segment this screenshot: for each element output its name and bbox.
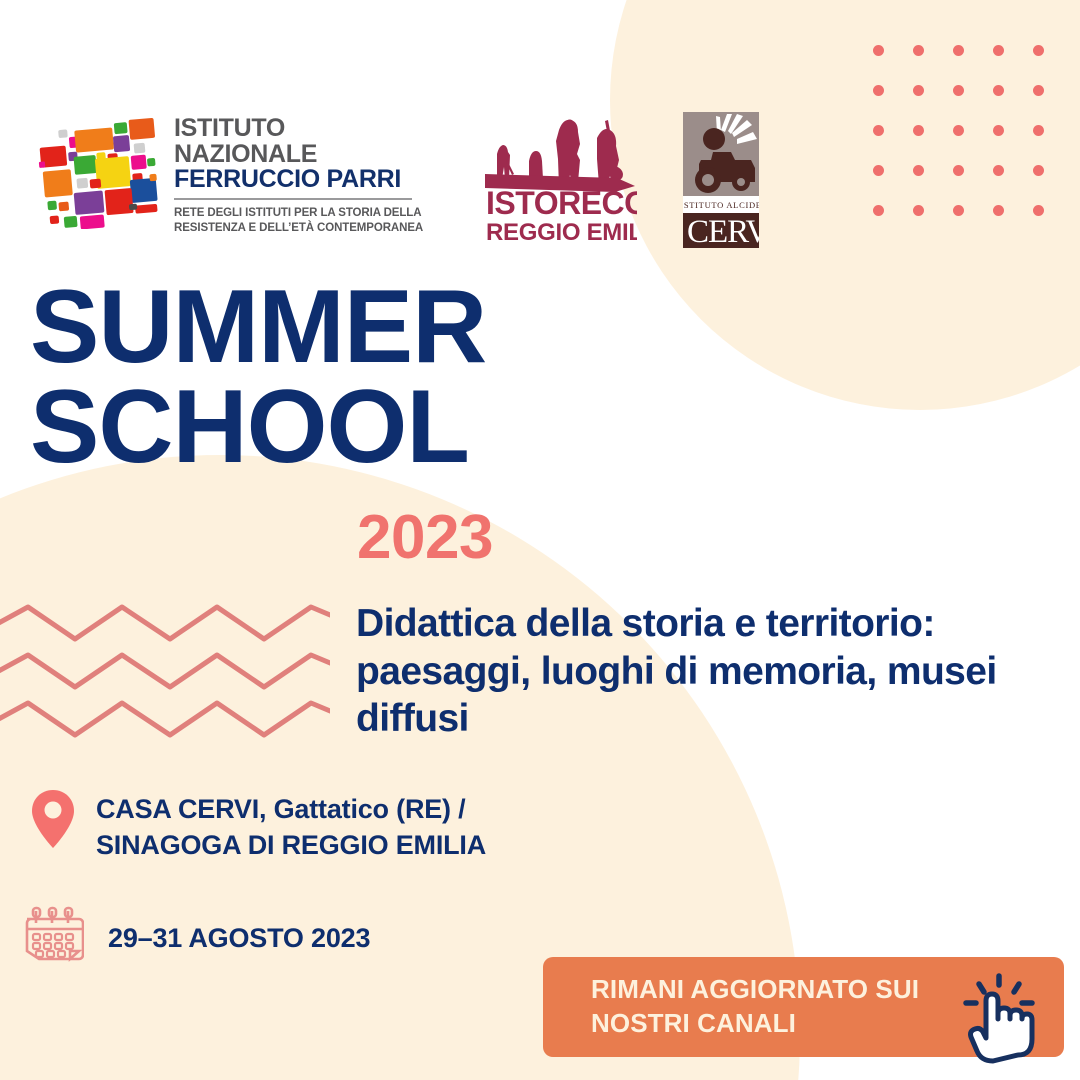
dot (1033, 165, 1044, 176)
dot (993, 85, 1004, 96)
headline-year: 2023 (357, 502, 493, 573)
dot (913, 125, 924, 136)
cervi-line1: ISTITUTO ALCIDE (683, 200, 759, 210)
dot (873, 45, 884, 56)
dot (993, 45, 1004, 56)
istoreco-line2: REGGIO EMILIA (486, 219, 637, 246)
cta-line2: NOSTRI CANALI (591, 1007, 919, 1041)
zigzag-lines-decoration (0, 595, 330, 745)
dot (913, 45, 924, 56)
place-line2: SINAGOGA DI REGGIO EMILIA (96, 828, 486, 864)
istituto-alcide-cervi-logo: ISTITUTO ALCIDE CERVI (683, 110, 759, 248)
dot (953, 45, 964, 56)
dot (953, 205, 964, 216)
map-pin-icon (30, 788, 76, 850)
parri-mosaic-icon (32, 117, 160, 229)
dot (1033, 85, 1044, 96)
tap-hand-cursor-icon (960, 973, 1038, 1065)
poster-canvas: ISTITUTO NAZIONALE FERRUCCIO PARRI RETE … (0, 0, 1080, 1080)
dot (913, 85, 924, 96)
dot (873, 165, 884, 176)
cervi-line2: CERVI (687, 214, 759, 248)
dot (953, 165, 964, 176)
headline-line1: SUMMER (30, 278, 486, 378)
dot-grid-decoration (858, 30, 1058, 230)
istoreco-line1: ISTORECO (486, 185, 637, 221)
dot (953, 125, 964, 136)
headline-line2: SCHOOL (30, 378, 486, 478)
calendar-icon (22, 905, 84, 969)
dot (993, 165, 1004, 176)
page-title: SUMMER SCHOOL (30, 278, 486, 478)
istituto-parri-logo: ISTITUTO NAZIONALE FERRUCCIO PARRI RETE … (32, 110, 432, 236)
dot (873, 85, 884, 96)
info-date-text: 29–31 AGOSTO 2023 (108, 917, 370, 957)
cta-label: RIMANI AGGIORNATO SUI NOSTRI CANALI (591, 973, 919, 1041)
parri-divider (174, 198, 412, 200)
dot (1033, 45, 1044, 56)
dot (873, 205, 884, 216)
info-date-row: 29–31 AGOSTO 2023 (22, 905, 370, 969)
dot (993, 205, 1004, 216)
istoreco-logo: ISTORECO REGGIO EMILIA (477, 110, 637, 246)
stay-updated-cta-banner[interactable]: RIMANI AGGIORNATO SUI NOSTRI CANALI (543, 957, 1064, 1057)
dot (1033, 205, 1044, 216)
parri-subtitle: RETE DEGLI ISTITUTI PER LA STORIA DELLA … (174, 206, 432, 237)
dot (993, 125, 1004, 136)
dot (873, 125, 884, 136)
cta-line1: RIMANI AGGIORNATO SUI (591, 973, 919, 1007)
parri-line2: FERRUCCIO PARRI (174, 167, 432, 193)
dot (913, 205, 924, 216)
place-line1: CASA CERVI, Gattatico (RE) / (96, 792, 486, 828)
dot (913, 165, 924, 176)
logo-row: ISTITUTO NAZIONALE FERRUCCIO PARRI RETE … (32, 110, 759, 248)
info-place-row: CASA CERVI, Gattatico (RE) / SINAGOGA DI… (30, 788, 486, 863)
parri-line1: ISTITUTO NAZIONALE (174, 116, 432, 167)
dot (1033, 125, 1044, 136)
info-place-text: CASA CERVI, Gattatico (RE) / SINAGOGA DI… (96, 788, 486, 863)
dot (953, 85, 964, 96)
subtitle: Didattica della storia e territorio: pae… (356, 600, 1006, 743)
